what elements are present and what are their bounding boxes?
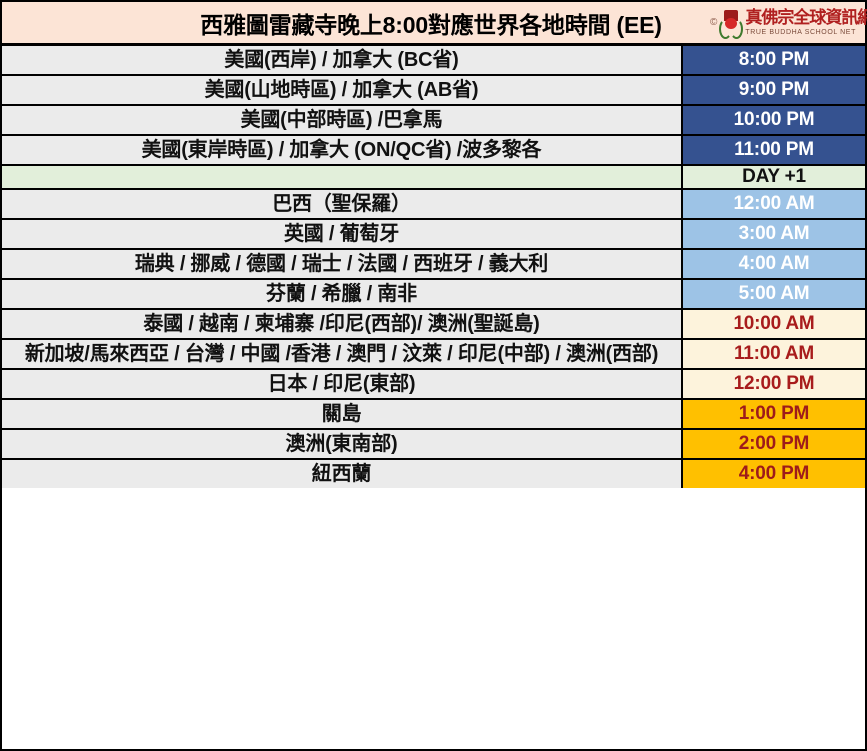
time-cell: 2:00 PM <box>683 430 865 458</box>
table-row: 瑞典 / 挪威 / 德國 / 瑞士 / 法國 / 西班牙 / 義大利4:00 A… <box>2 250 865 280</box>
time-cell: 10:00 AM <box>683 310 865 338</box>
time-cell: 11:00 AM <box>683 340 865 368</box>
table-row: DAY +1 <box>2 166 865 190</box>
time-cell: DAY +1 <box>683 166 865 188</box>
region-cell: 關島 <box>2 400 683 428</box>
logo-chinese-name: 真佛宗全球資訊網 <box>745 10 867 27</box>
site-logo: © 真佛宗全球資訊網 TRUE BUDDHA SCHOOL NET <box>710 10 865 36</box>
table-row: 英國 / 葡萄牙3:00 AM <box>2 220 865 250</box>
table-row: 美國(西岸) / 加拿大 (BC省)8:00 PM <box>2 46 865 76</box>
time-cell: 3:00 AM <box>683 220 865 248</box>
region-cell: 英國 / 葡萄牙 <box>2 220 683 248</box>
time-cell: 5:00 AM <box>683 280 865 308</box>
region-cell: 美國(東岸時區) / 加拿大 (ON/QC省) /波多黎各 <box>2 136 683 164</box>
table-row: 巴西（聖保羅）12:00 AM <box>2 190 865 220</box>
region-cell <box>2 166 683 188</box>
table-row: 美國(中部時區) /巴拿馬10:00 PM <box>2 106 865 136</box>
region-cell: 瑞典 / 挪威 / 德國 / 瑞士 / 法國 / 西班牙 / 義大利 <box>2 250 683 278</box>
timezone-table: 美國(西岸) / 加拿大 (BC省)8:00 PM美國(山地時區) / 加拿大 … <box>0 46 867 751</box>
table-row: 紐西蘭4:00 PM <box>2 460 865 488</box>
table-row: 芬蘭 / 希臘 / 南非5:00 AM <box>2 280 865 310</box>
region-cell: 巴西（聖保羅） <box>2 190 683 218</box>
time-cell: 4:00 AM <box>683 250 865 278</box>
time-cell: 4:00 PM <box>683 460 865 488</box>
page-title: 西雅圖雷藏寺晚上8:00對應世界各地時間 (EE) <box>2 6 710 40</box>
table-header: 西雅圖雷藏寺晚上8:00對應世界各地時間 (EE) © 真佛宗全球資訊網 TRU… <box>0 0 867 46</box>
table-row: 日本 / 印尼(東部)12:00 PM <box>2 370 865 400</box>
time-cell: 11:00 PM <box>683 136 865 164</box>
region-cell: 紐西蘭 <box>2 460 683 488</box>
region-cell: 美國(山地時區) / 加拿大 (AB省) <box>2 76 683 104</box>
time-cell: 12:00 AM <box>683 190 865 218</box>
timezone-table-sheet: 西雅圖雷藏寺晚上8:00對應世界各地時間 (EE) © 真佛宗全球資訊網 TRU… <box>0 0 867 751</box>
table-row: 泰國 / 越南 / 柬埔寨 /印尼(西部)/ 澳洲(聖誕島)10:00 AM <box>2 310 865 340</box>
true-buddha-emblem-icon <box>720 10 742 36</box>
copyright-icon: © <box>710 18 717 28</box>
time-cell: 1:00 PM <box>683 400 865 428</box>
table-row: 美國(山地時區) / 加拿大 (AB省)9:00 PM <box>2 76 865 106</box>
region-cell: 芬蘭 / 希臘 / 南非 <box>2 280 683 308</box>
time-cell: 12:00 PM <box>683 370 865 398</box>
region-cell: 美國(中部時區) /巴拿馬 <box>2 106 683 134</box>
region-cell: 日本 / 印尼(東部) <box>2 370 683 398</box>
region-cell: 泰國 / 越南 / 柬埔寨 /印尼(西部)/ 澳洲(聖誕島) <box>2 310 683 338</box>
table-row: 美國(東岸時區) / 加拿大 (ON/QC省) /波多黎各11:00 PM <box>2 136 865 166</box>
table-row: 澳洲(東南部)2:00 PM <box>2 430 865 460</box>
time-cell: 8:00 PM <box>683 46 865 74</box>
region-cell: 澳洲(東南部) <box>2 430 683 458</box>
table-row: 新加坡/馬來西亞 / 台灣 / 中國 /香港 / 澳門 / 汶萊 / 印尼(中部… <box>2 340 865 370</box>
region-cell: 新加坡/馬來西亞 / 台灣 / 中國 /香港 / 澳門 / 汶萊 / 印尼(中部… <box>2 340 683 368</box>
time-cell: 10:00 PM <box>683 106 865 134</box>
table-row: 關島1:00 PM <box>2 400 865 430</box>
logo-wordmark: 真佛宗全球資訊網 TRUE BUDDHA SCHOOL NET <box>745 10 867 36</box>
logo-english-name: TRUE BUDDHA SCHOOL NET <box>745 29 867 36</box>
region-cell: 美國(西岸) / 加拿大 (BC省) <box>2 46 683 74</box>
time-cell: 9:00 PM <box>683 76 865 104</box>
